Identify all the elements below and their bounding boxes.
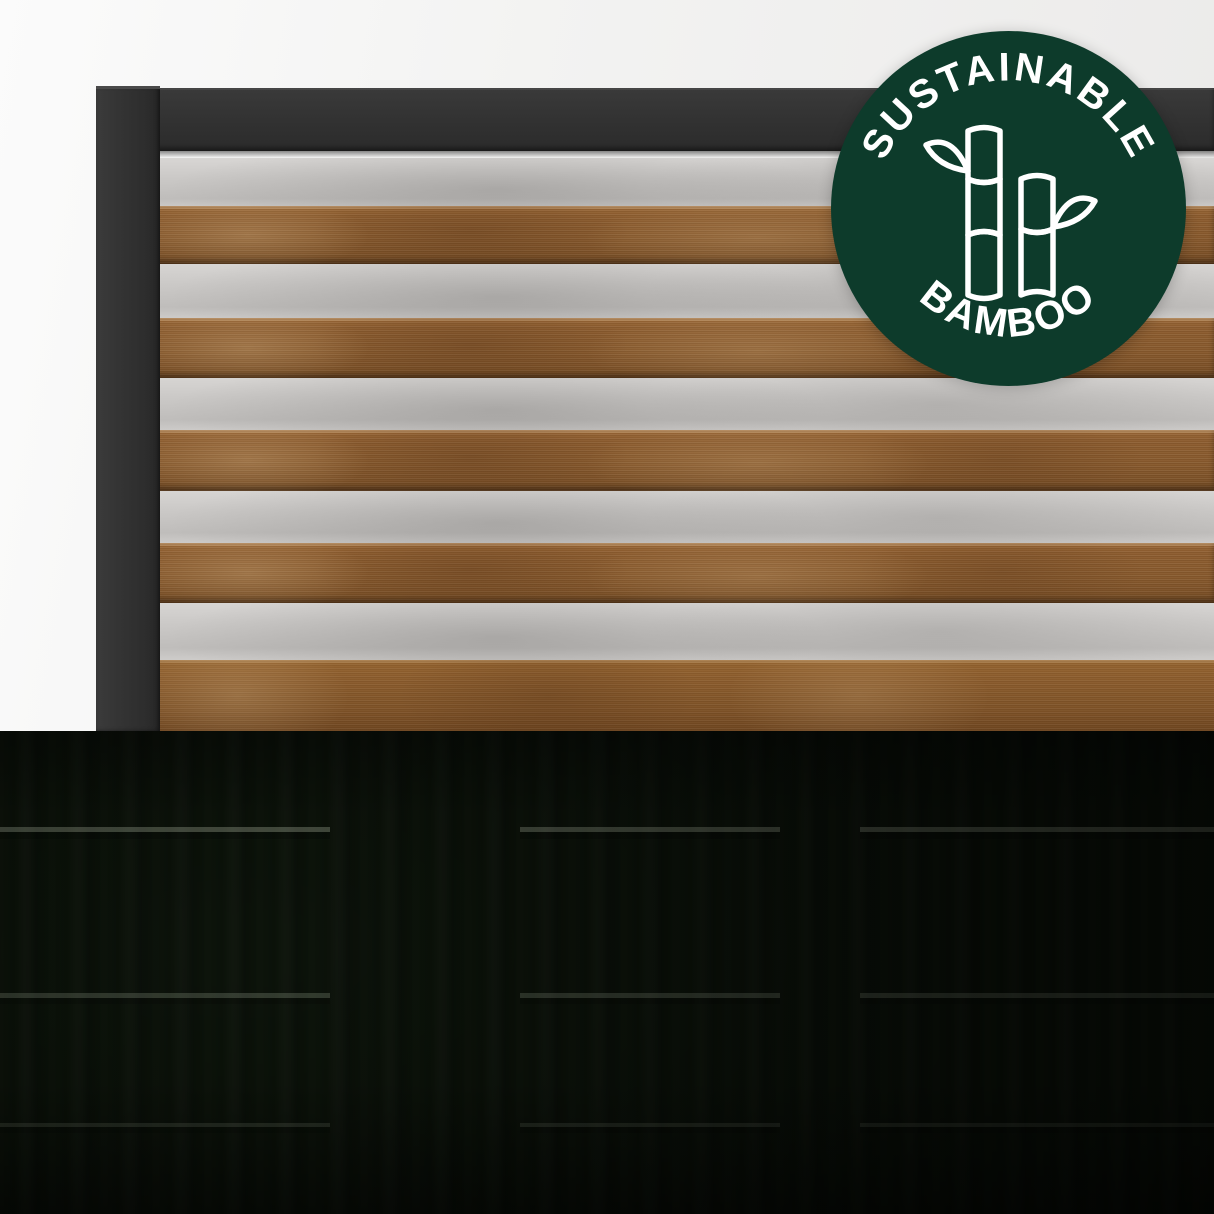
slat-gap (160, 489, 1214, 545)
bamboo-stalks-icon (926, 128, 1095, 299)
marketing-image: SUSTAINABLE BAMBOO (0, 0, 1214, 1214)
bamboo-slat (152, 543, 1214, 603)
feature-list: DURABLE & STRONG EASY TO CLEAN BEAUTIFUL… (0, 731, 1214, 1214)
sustainable-bamboo-badge: SUSTAINABLE BAMBOO (831, 31, 1186, 386)
badge-top-text: SUSTAINABLE (853, 45, 1164, 166)
bamboo-slat (152, 430, 1214, 491)
bamboo-surface (104, 660, 1214, 731)
slat-gap (160, 601, 1214, 661)
badge-bottom-text: BAMBOO (912, 272, 1105, 346)
frame-left-post (96, 86, 160, 731)
